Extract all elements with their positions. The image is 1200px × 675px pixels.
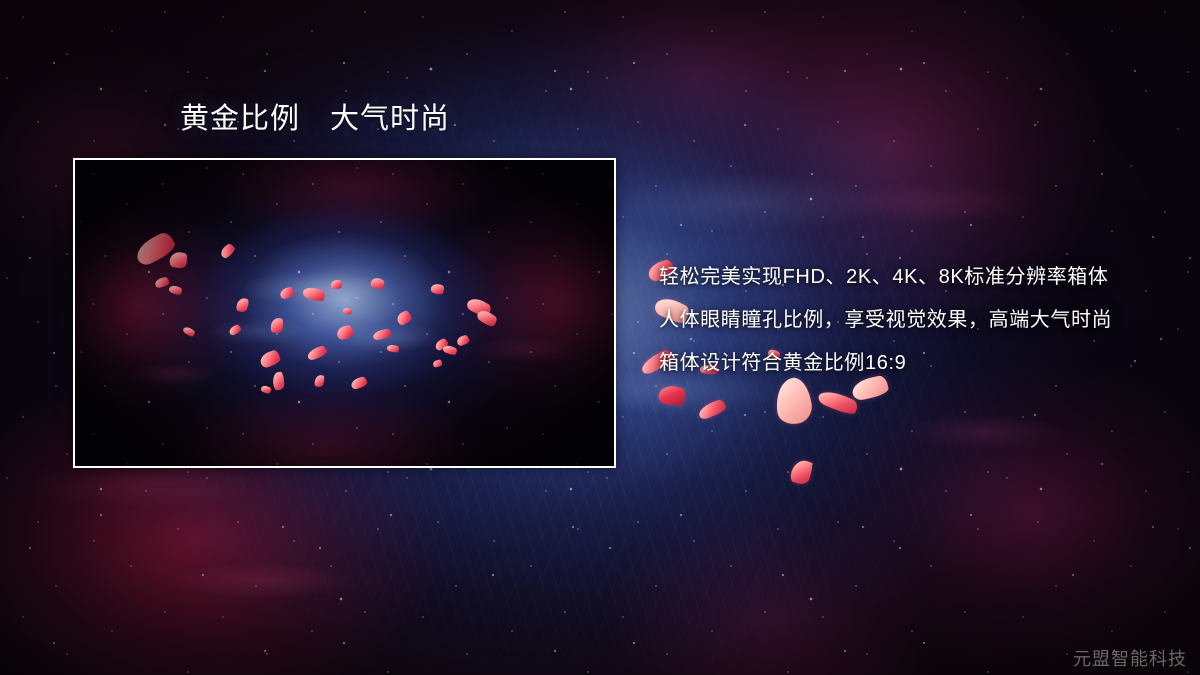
body-copy: 轻松完美实现FHD、2K、4K、8K标准分辨率箱体 人体眼睛瞳孔比例，享受视觉效… [659,256,1112,385]
body-line-2: 人体眼睛瞳孔比例，享受视觉效果，高端大气时尚 [659,299,1112,342]
watermark: 元盟智能科技 [1073,648,1187,670]
page-title: 黄金比例 大气时尚 [180,101,450,137]
slide-canvas: 黄金比例 大气时尚 轻松完美实现FHD、2K、4K、8K标准分辨率箱体 人体眼睛… [0,0,1200,675]
body-line-3: 箱体设计符合黄金比例16:9 [659,342,1112,385]
body-line-1: 轻松完美实现FHD、2K、4K、8K标准分辨率箱体 [659,256,1112,299]
screen-preview-frame[interactable] [73,158,616,468]
screen-preview-content [75,160,614,466]
preview-vignette [75,160,614,466]
